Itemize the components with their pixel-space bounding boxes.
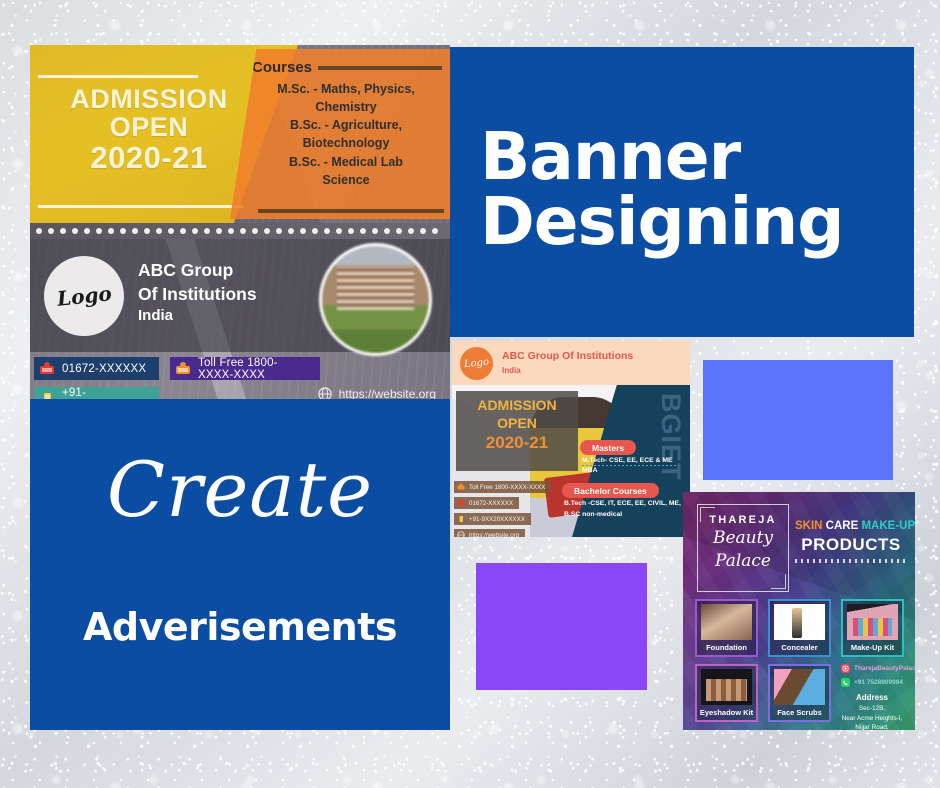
banner1-dot-divider — [30, 223, 450, 239]
banner2-mobile-text: +91-9XX20XXXXXX — [469, 516, 525, 523]
globe-icon — [457, 531, 465, 537]
makeup-kit-thumbnail — [847, 604, 898, 640]
beauty-brand-mid: Beauty — [697, 529, 789, 549]
banner-designing-line1: Banner — [480, 125, 844, 190]
beauty-headline-skin: SKIN — [795, 520, 826, 532]
advertisements-text: Adverisements — [30, 605, 450, 649]
banner1-campus-photo — [319, 243, 432, 356]
beauty-card-label: Eyeshadow Kit — [697, 708, 756, 717]
banner1-admission-line1: ADMISSION — [30, 85, 268, 113]
beauty-brand-top: THAREJA — [697, 514, 789, 526]
banner1-admission-line3: 2020-21 — [30, 142, 268, 175]
banner2-website-text: https://website.org — [469, 532, 519, 538]
banner1-courses-list: M.Sc. - Maths, Physics, Chemistry B.Sc. … — [250, 80, 442, 189]
banner2-masters-line2: MBA — [582, 467, 597, 474]
banner1-bottom-section: Logo ABC Group Of Institutions India 016… — [30, 239, 450, 405]
beauty-card-label: Make-Up Kit — [843, 643, 902, 652]
face-scrubs-thumbnail — [774, 669, 825, 705]
create-advertisements-panel: Create Adverisements — [30, 400, 450, 730]
banner1-institute-line2: Of Institutions — [138, 283, 257, 307]
beauty-card-label: Concealer — [770, 643, 829, 652]
beauty-product-card[interactable]: Concealer — [768, 599, 831, 657]
beauty-address-heading: Address — [833, 692, 911, 704]
banner2-mobile-chip: +91-9XX20XXXXXX — [454, 513, 531, 525]
banner2-bachelor-line1: B.Tech -CSE, IT, ECE, EE, CIVIL, ME, FT — [564, 500, 690, 507]
banner-designing-line2: Designing — [480, 190, 844, 255]
banner1-courses-panel: Courses M.Sc. - Maths, Physics, Chemistr… — [230, 49, 450, 219]
blue-placeholder-image — [703, 360, 893, 480]
banner2-admission-block: ADMISSION OPEN 2020-21 — [456, 397, 578, 453]
beauty-whatsapp-number: +91 7528909984 — [854, 679, 903, 686]
banner1-phone-text: 01672-XXXXXX — [62, 363, 146, 375]
banner2-dot-rule — [582, 465, 678, 466]
beauty-instagram-row[interactable]: TharejaBeautyPalace — [841, 664, 915, 673]
beauty-headline-care: CARE — [826, 520, 862, 532]
banner1-phone-chip: 01672-XXXXXX — [34, 357, 159, 380]
beauty-whatsapp-row[interactable]: +91 7528909984 — [841, 678, 903, 687]
telephone-icon — [457, 483, 465, 491]
banner1-admission-line2: OPEN — [30, 113, 268, 141]
beauty-dot-divider — [795, 559, 907, 563]
beauty-headline-makeup: MAKE-UP — [861, 520, 915, 532]
banner1-course-line: B.Sc. - Agriculture, — [254, 116, 438, 134]
banner2-admission-line2: OPEN — [456, 415, 578, 433]
banner2-masters-pill: Masters — [580, 440, 636, 455]
banner1-top-section: ADMISSION OPEN 2020-21 Courses M.Sc. - M… — [30, 45, 450, 223]
banner2-tollfree-chip: Toll Free 1800-XXXX-XXXX — [454, 481, 551, 493]
banner2-header: Logo ABC Group Of Institutions India — [452, 341, 690, 385]
beauty-address-line: Sec-12B, — [833, 704, 911, 714]
beauty-product-card[interactable]: Eyeshadow Kit — [695, 664, 758, 722]
beauty-address-line: Near Acme Heights-I, — [833, 714, 911, 724]
banner2-bachelor-pill: Bachelor Courses — [562, 483, 659, 498]
banner2-watermark: BGIET — [655, 393, 686, 481]
banner1-course-line: B.Sc. - Medical Lab — [254, 153, 438, 171]
beauty-products-word: PRODUCTS — [791, 535, 911, 555]
banner2-logo-badge: Logo — [460, 347, 493, 380]
banner2-bachelor-line2: B.SC non-medical — [564, 511, 622, 518]
beauty-card-label: Foundation — [697, 643, 756, 652]
telephone-icon — [457, 499, 465, 507]
banner1-courses-heading-rule — [318, 66, 442, 70]
beauty-brand-block: THAREJA Beauty Palace — [697, 514, 789, 571]
banner1-tollfree-text: Toll Free 1800-XXXX-XXXX — [198, 357, 310, 381]
banner1-institute-name: ABC Group Of Institutions India — [138, 259, 257, 327]
banner2-tollfree-text: Toll Free 1800-XXXX-XXXX — [469, 484, 545, 491]
mobile-phone-icon — [457, 515, 465, 523]
beauty-address-line: Nijjar Road, — [833, 723, 911, 730]
banner-abc-admission-wide: ADMISSION OPEN 2020-21 Courses M.Sc. - M… — [30, 45, 450, 405]
banner2-body: ADMISSION OPEN 2020-21 BGIET Masters M.T… — [452, 385, 690, 537]
banner1-course-line: Chemistry — [254, 98, 438, 116]
banner1-logo-text: Logo — [56, 281, 113, 311]
banner2-title-block: ABC Group Of Institutions India — [502, 349, 633, 377]
banner2-admission-line3: 2020-21 — [456, 432, 578, 453]
banner-abc-admission-small: Logo ABC Group Of Institutions India ADM… — [452, 341, 690, 537]
purple-placeholder-image — [476, 563, 647, 690]
beauty-product-card[interactable]: Face Scrubs — [768, 664, 831, 722]
banner2-masters-line1: M.Tech- CSE, EE, ECE & ME — [582, 457, 673, 464]
beauty-headline: SKIN CARE MAKE-UP — [795, 520, 909, 532]
banner-designing-panel: Banner Designing — [450, 47, 914, 337]
banner2-phone-chip: 01672-XXXXXX — [454, 497, 519, 509]
banner-designing-text: Banner Designing — [480, 125, 844, 254]
banner1-course-line: Biotechnology — [254, 134, 438, 152]
banner1-courses-bottom-rule — [258, 209, 444, 213]
eyeshadow-kit-thumbnail — [701, 669, 752, 705]
create-script-text: Create — [30, 452, 450, 528]
banner1-courses-heading-row: Courses — [252, 59, 442, 76]
banner1-institute-line1: ABC Group — [138, 259, 257, 283]
telephone-icon — [175, 362, 191, 376]
banner1-course-line: Science — [254, 171, 438, 189]
banner2-title: ABC Group Of Institutions — [502, 349, 633, 365]
banner2-admission-line1: ADMISSION — [456, 397, 578, 415]
foundation-thumbnail — [701, 604, 752, 640]
banner1-course-line: M.Sc. - Maths, Physics, — [254, 80, 438, 98]
whatsapp-icon — [841, 678, 850, 687]
banner-thareja-beauty-palace: THAREJA Beauty Palace SKIN CARE MAKE-UP … — [683, 492, 915, 730]
beauty-card-label: Face Scrubs — [770, 708, 829, 717]
banner1-tollfree-chip: Toll Free 1800-XXXX-XXXX — [170, 357, 320, 380]
beauty-product-card[interactable]: Foundation — [695, 599, 758, 657]
telephone-icon — [39, 362, 55, 376]
instagram-icon — [841, 664, 850, 673]
banner1-courses-heading: Courses — [252, 59, 312, 76]
banner2-subtitle: India — [502, 365, 633, 377]
beauty-instagram-handle: TharejaBeautyPalace — [854, 665, 915, 672]
beauty-brand-bot: Palace — [697, 552, 789, 572]
banner2-logo-text: Logo — [463, 356, 489, 370]
banner1-admission-block: ADMISSION OPEN 2020-21 — [30, 85, 268, 174]
banner2-website-chip[interactable]: https://website.org — [454, 529, 525, 537]
banner2-phone-text: 01672-XXXXXX — [469, 500, 513, 507]
concealer-thumbnail — [774, 604, 825, 640]
banner1-logo-badge: Logo — [44, 256, 124, 336]
beauty-address-block: Address Sec-12B, Near Acme Heights-I, Ni… — [833, 692, 911, 730]
beauty-product-card[interactable]: Make-Up Kit — [841, 599, 904, 657]
banner1-institute-line3: India — [138, 306, 257, 326]
